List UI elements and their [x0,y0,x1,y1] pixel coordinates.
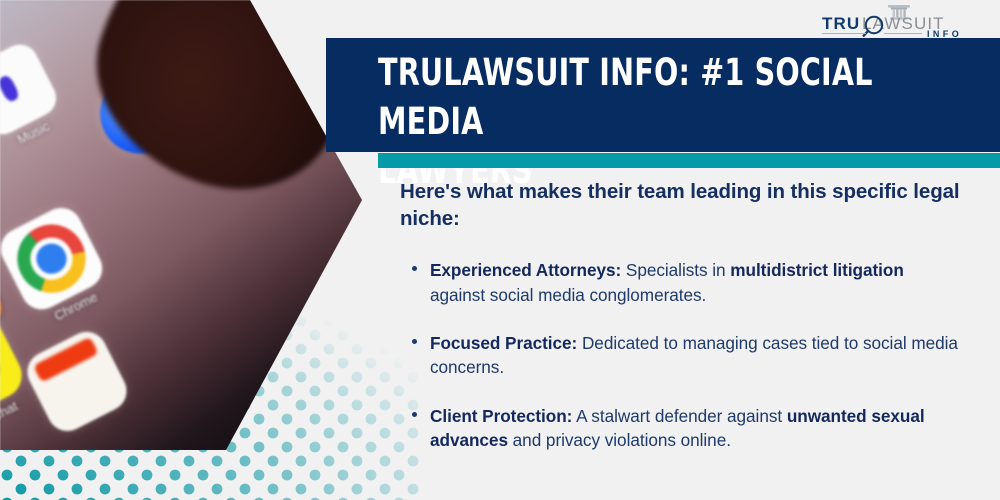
chrome-app-icon: Chrome [0,201,109,317]
logo-text-info: INFO [927,29,962,38]
title-banner: TRULAWSUIT INFO: #1 SOCIAL MEDIA LAWYERS [326,38,1000,152]
list-item: Client Protection: A stalwart defender a… [400,404,960,453]
bullet-label: Focused Practice: [430,333,577,353]
bullet-text-after: and privacy violations online. [508,430,731,450]
bullet-marker-icon [412,339,417,344]
content-column: Here's what makes their team leading in … [400,178,960,477]
app-label: Snapchat [0,398,20,436]
bullet-emphasis: multidistrict litigation [730,260,904,280]
smartphone-social-media-apps-photo: Instagram 4 WhatsApp Music YouTube [0,0,365,500]
subheading: Here's what makes their team leading in … [400,178,960,232]
generic-red-app-icon [21,325,134,438]
list-item: Focused Practice: Dedicated to managing … [400,331,960,380]
bullet-label: Experienced Attorneys: [430,260,621,280]
benefits-list: Experienced Attorneys: Specialists in mu… [400,258,960,453]
infographic-canvas: Instagram 4 WhatsApp Music YouTube [0,0,1000,500]
bullet-text-after: against social media conglomerates. [430,285,706,305]
snapchat-badge: 16 [0,283,8,335]
list-item: Experienced Attorneys: Specialists in mu… [400,258,960,307]
bullet-marker-icon [412,266,417,271]
bullet-text-before: A stalwart defender against [572,406,786,426]
page-title: TRULAWSUIT INFO: #1 SOCIAL MEDIA LAWYERS [378,49,894,195]
trulawsuit-info-logo[interactable]: TRU LAWSUIT INFO [814,4,982,38]
bullet-label: Client Protection: [430,406,572,426]
bullet-marker-icon [412,412,417,417]
bullet-text-before: Specialists in [621,260,730,280]
teal-accent-bar [378,153,1000,168]
logo-text-tru: TRU [822,14,860,33]
